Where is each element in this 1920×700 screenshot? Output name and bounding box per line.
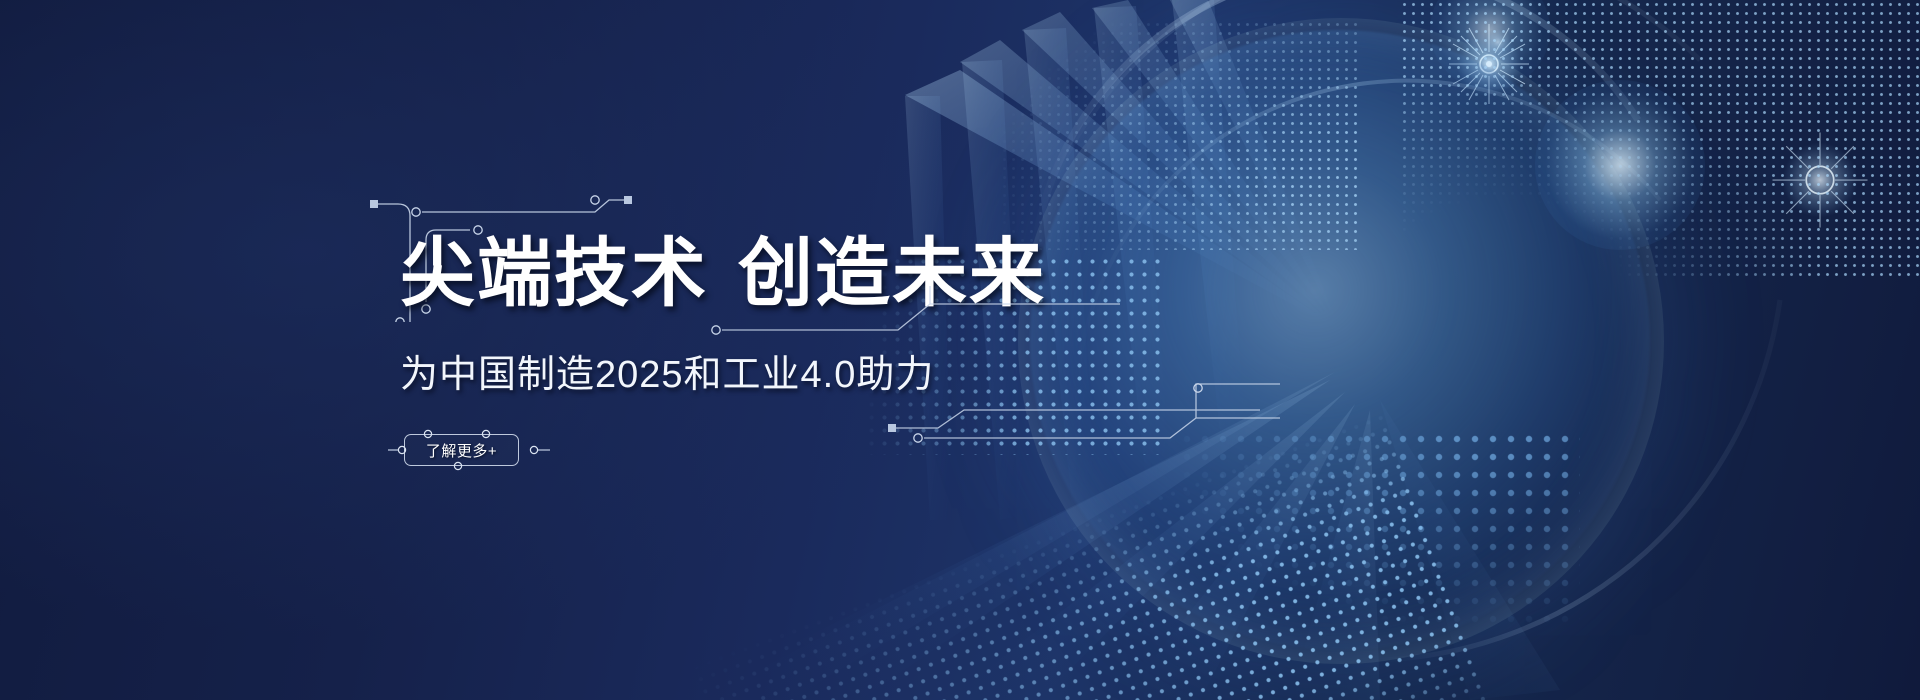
- page-subtitle: 为中国制造2025和工业4.0助力: [400, 343, 934, 398]
- learn-more-button[interactable]: 了解更多+: [386, 424, 556, 476]
- headline-part1: 尖端技术: [400, 231, 708, 315]
- learn-more-button-hit[interactable]: 了解更多+: [404, 434, 519, 466]
- learn-more-button-label: 了解更多+: [426, 440, 497, 461]
- circuit-trace-line-upper-icon: [700, 286, 1180, 346]
- hero-banner: 尖端技术创造未来 为中国制造2025和工业4.0助力: [0, 0, 1920, 700]
- circuit-trace-line-lower-icon: [860, 376, 1280, 466]
